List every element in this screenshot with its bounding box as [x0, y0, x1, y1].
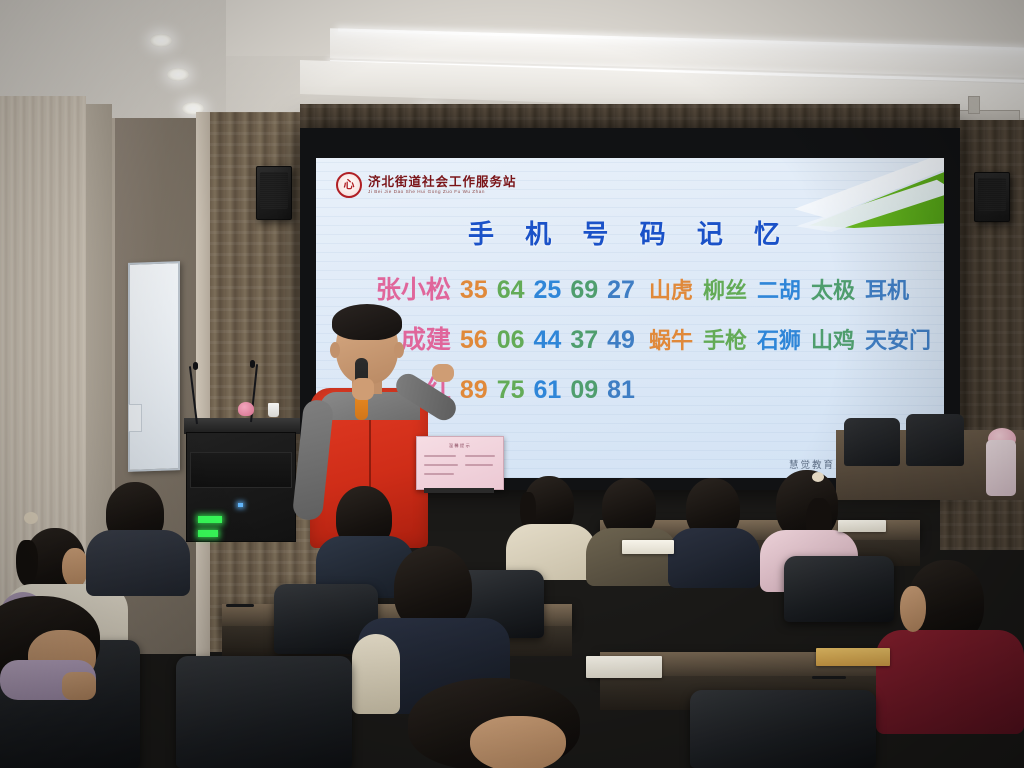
number-pair: 06: [497, 326, 525, 355]
student-body: [586, 528, 678, 586]
open-book: [816, 648, 890, 666]
number-pair: 09: [570, 376, 598, 405]
logo-glyph: 心: [344, 180, 355, 191]
projector-mount: [968, 96, 980, 114]
logo-org-name: 济北街道社会工作服务站: [368, 175, 517, 188]
student-body: [86, 530, 190, 596]
number-pair: 61: [534, 376, 562, 405]
organization-logo: 心 济北街道社会工作服务站 Ji Bei Jie Dao She Hui Gon…: [336, 172, 517, 198]
mnemonic-word: 山虎: [649, 273, 693, 305]
number-pair: 69: [570, 276, 598, 305]
rack-led-indicator: [238, 503, 243, 507]
student-ponytail: [16, 540, 38, 586]
open-book: [622, 540, 674, 554]
open-book: [586, 656, 662, 678]
downlight: [150, 34, 172, 47]
student-body: [668, 528, 760, 588]
number-pair: 37: [570, 326, 598, 355]
hair-scrunchie: [812, 472, 824, 482]
paper-cup: [268, 403, 279, 417]
wall-speaker-right: [974, 172, 1010, 222]
flower-vase: [986, 440, 1016, 496]
number-pair: 27: [607, 276, 635, 305]
hair-scrunchie: [24, 512, 38, 524]
side-chair-right: [906, 414, 964, 466]
notice-card-title: 温馨提示: [417, 443, 503, 449]
pen: [226, 604, 254, 607]
row-right-column: 蜗牛 手枪 石狮 山鸡 天安门: [641, 323, 944, 355]
wall-speaker-left: [256, 166, 292, 220]
student-face: [62, 548, 88, 588]
mnemonic-word: 柳丝: [703, 273, 747, 305]
number-pair: 49: [607, 326, 635, 355]
presenter-hair: [332, 304, 402, 340]
notice-card: 温馨提示: [416, 436, 504, 490]
logo-org-pinyin: Ji Bei Jie Dao She Hui Gong Zuo Fu Wu Zh…: [368, 190, 517, 195]
presenter-ear: [394, 342, 404, 358]
student-hand: [62, 672, 96, 700]
pen: [812, 676, 846, 679]
number-pair: 64: [497, 276, 525, 305]
mnemonic-word: 二胡: [757, 273, 801, 305]
flower-decoration: [238, 402, 254, 416]
number-pair: 75: [497, 376, 525, 405]
student-face: [470, 716, 566, 768]
notice-card-stand: [424, 488, 494, 493]
classroom-chair[interactable]: [176, 656, 352, 768]
side-chair-right: [844, 418, 900, 466]
student-body: [352, 634, 400, 714]
gooseneck-mic-head: [193, 362, 198, 370]
whiteboard-tray: [128, 404, 142, 432]
mnemonic-word: 山鸡: [811, 323, 855, 355]
slide-title: 手 机 号 码 记 忆: [316, 214, 944, 251]
classroom-photo: 心 济北街道社会工作服务站 Ji Bei Jie Dao She Hui Gon…: [0, 0, 1024, 768]
gooseneck-mic-head: [250, 360, 255, 368]
presenter-hand-right: [432, 364, 454, 382]
number-pair: 25: [534, 276, 562, 305]
downlight: [167, 68, 189, 81]
mnemonic-word: 耳机: [865, 273, 909, 305]
rack-led-display: [198, 516, 222, 523]
row-right-column: 山虎 柳丝 二胡 太极 耳机: [641, 273, 944, 305]
open-book: [838, 520, 886, 532]
presenter-hand-left: [352, 378, 374, 400]
mnemonic-word: 蜗牛: [649, 323, 693, 355]
mnemonic-word: 手枪: [703, 323, 747, 355]
number-pair: 81: [607, 376, 635, 405]
mnemonic-word: 石狮: [757, 323, 801, 355]
mnemonic-word: 太极: [811, 273, 855, 305]
student-face: [900, 586, 926, 632]
mnemonic-word: 天安门: [865, 323, 931, 355]
presenter-ear: [330, 342, 340, 358]
number-pair: 44: [534, 326, 562, 355]
rack-led-display: [198, 530, 218, 537]
av-rack-panel: [190, 452, 292, 488]
logo-seal-icon: 心: [336, 172, 362, 198]
whiteboard: [128, 261, 180, 472]
classroom-chair[interactable]: [784, 556, 894, 622]
classroom-chair[interactable]: [690, 690, 876, 768]
student-body: [876, 630, 1024, 734]
door-frame: [196, 112, 210, 660]
